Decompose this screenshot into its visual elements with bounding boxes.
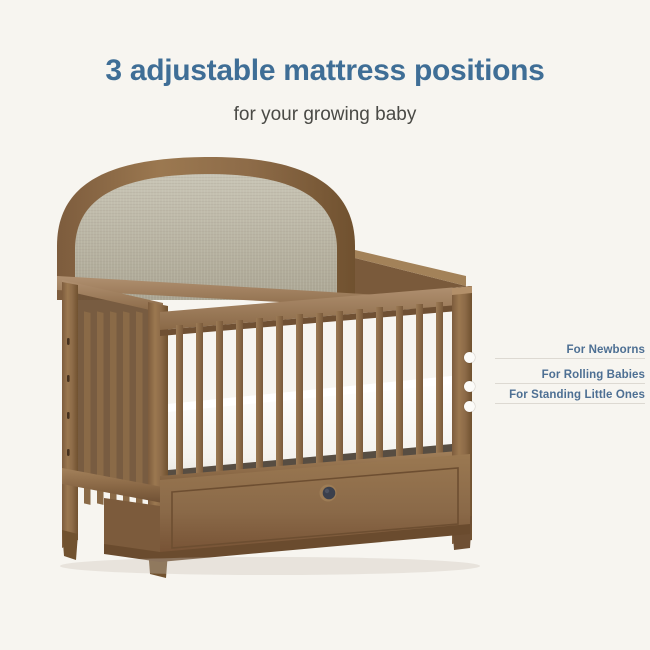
callout-leader-line: [495, 383, 645, 384]
callout-leader-line: [495, 403, 645, 404]
callout-leader-line: [495, 358, 645, 359]
callout-label: For Rolling Babies: [542, 369, 645, 381]
mattress-position-dot-newborns[interactable]: [464, 352, 475, 363]
ground-shadow: [60, 557, 480, 575]
callout-for-newborns: For Newborns: [495, 341, 645, 359]
crib-illustration: [0, 0, 650, 650]
product-infographic: 3 adjustable mattress positions for your…: [0, 0, 650, 650]
callout-for-rolling-babies: For Rolling Babies: [495, 366, 645, 384]
callout-label: For Newborns: [566, 344, 645, 356]
mattress-position-dot-standing[interactable]: [464, 401, 475, 412]
headboard: [57, 157, 466, 300]
page-title: 3 adjustable mattress positions: [0, 56, 650, 86]
mattress-position-dot-rolling[interactable]: [464, 381, 475, 392]
callout-label: For Standing Little Ones: [509, 389, 645, 401]
page-subtitle: for your growing baby: [0, 105, 650, 124]
callout-for-standing-little-ones: For Standing Little Ones: [495, 386, 645, 404]
drawer-knob[interactable]: [320, 485, 337, 502]
